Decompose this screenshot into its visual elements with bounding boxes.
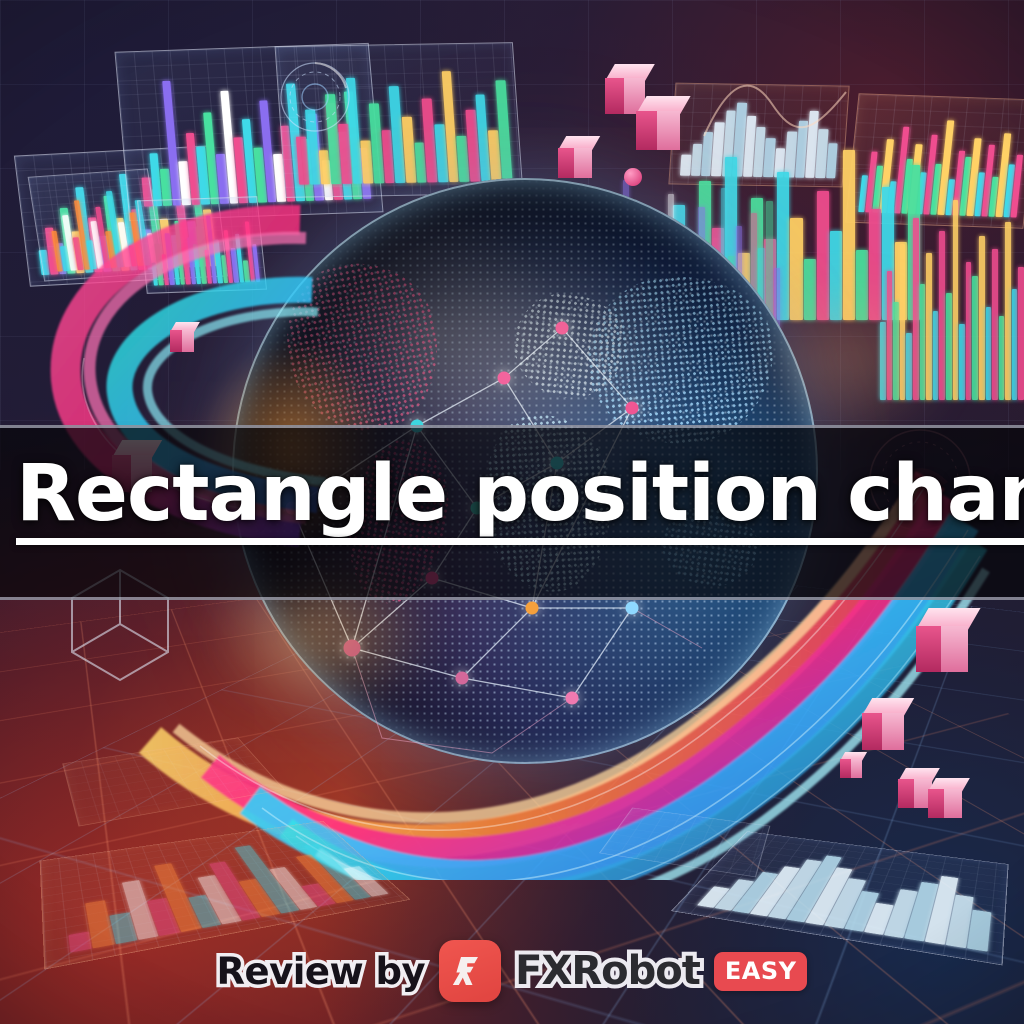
fx-monogram-icon (450, 951, 490, 991)
cube-icon (928, 778, 962, 818)
review-by-label: Review by (217, 950, 426, 993)
cube-icon (558, 136, 592, 178)
brand-footer: Review by FXRobot EASY (0, 940, 1024, 1002)
title-underline (16, 538, 1024, 545)
fxrobot-logo-icon[interactable] (439, 940, 501, 1002)
easy-badge: EASY (714, 952, 808, 991)
page-title: Rectangle position change (16, 452, 1024, 536)
band-top-edge (0, 425, 1024, 428)
cube-icon (898, 768, 932, 808)
cube-icon (862, 698, 904, 750)
brand-name: FXRobot (515, 948, 700, 994)
promo-banner: Rectangle position change Review by FXRo… (0, 0, 1024, 1024)
cube-icon (170, 322, 194, 352)
hud-curve-icon (700, 58, 850, 148)
cube-icon (840, 752, 862, 778)
cube-icon (916, 608, 968, 672)
band-bottom-edge (0, 597, 1024, 600)
cube-icon (636, 96, 680, 150)
hud-dial-icon (276, 58, 354, 136)
